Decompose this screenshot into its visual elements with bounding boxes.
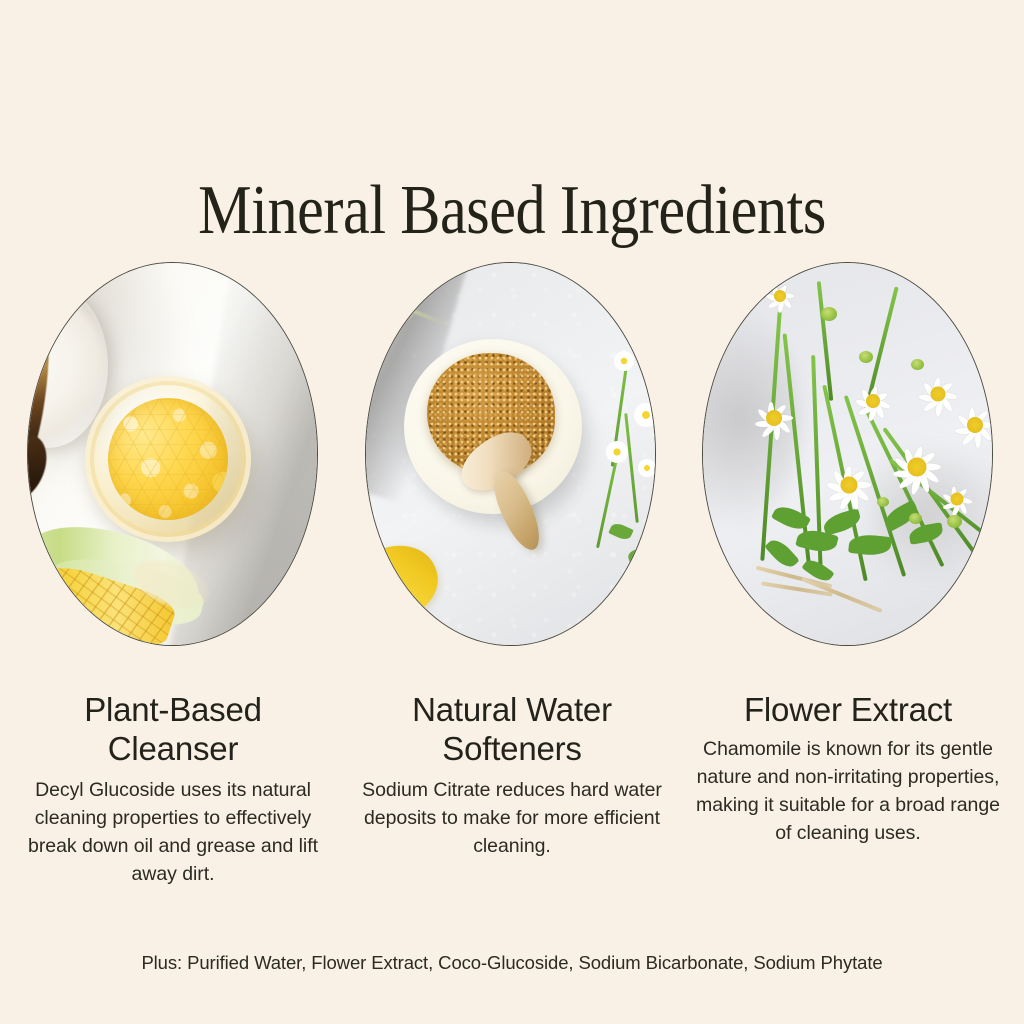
column-heading: Natural Water Softeners [350, 690, 674, 768]
feature-column-plant-based-cleanser: Plant-Based Cleanser Decyl Glucoside use… [11, 690, 335, 888]
page-title: Mineral Based Ingredients [72, 173, 953, 249]
chamomile-flower [939, 481, 975, 517]
ingredients-infographic: Mineral Based Ingredients [0, 0, 1024, 1024]
chamomile-flower [634, 403, 655, 427]
chamomile-bud [877, 497, 889, 507]
honeycomb-gel [108, 398, 228, 520]
chamomile-flower [751, 395, 797, 441]
additional-ingredients-note: Plus: Purified Water, Flower Extract, Co… [0, 950, 1024, 976]
chamomile-flower [638, 459, 655, 477]
column-body: Chamomile is known for its gentle nature… [686, 735, 1010, 847]
column-heading: Plant-Based Cleanser [11, 690, 335, 768]
chamomile-flower [823, 459, 875, 511]
chamomile-bud [859, 351, 873, 363]
chamomile-bud [911, 359, 924, 370]
chamomile-flower [606, 441, 628, 463]
chamomile-flower [614, 351, 634, 371]
chamomile-bud [821, 307, 837, 321]
glass-bowl [85, 376, 251, 542]
feature-column-flower-extract: Flower Extract Chamomile is known for it… [686, 690, 1010, 847]
photo-row [27, 262, 997, 646]
column-body: Sodium Citrate reduces hard water deposi… [350, 776, 674, 860]
chamomile-flower [889, 439, 945, 495]
chamomile-bud [947, 515, 962, 528]
chamomile-bud [909, 513, 922, 524]
chamomile-flower [853, 381, 893, 421]
natural-water-softeners-photo [365, 262, 656, 646]
feature-columns: Plant-Based Cleanser Decyl Glucoside use… [0, 690, 1024, 910]
yellow-flower [370, 285, 416, 325]
column-body: Decyl Glucoside uses its natural cleanin… [11, 776, 335, 888]
flower-extract-photo [702, 262, 993, 646]
plant-based-cleanser-photo [27, 262, 318, 646]
feature-column-natural-water-softeners: Natural Water Softeners Sodium Citrate r… [350, 690, 674, 860]
chamomile-flower [951, 401, 992, 449]
chamomile-flower [915, 371, 961, 417]
chamomile-flower [763, 279, 797, 313]
column-heading: Flower Extract [686, 690, 1010, 729]
